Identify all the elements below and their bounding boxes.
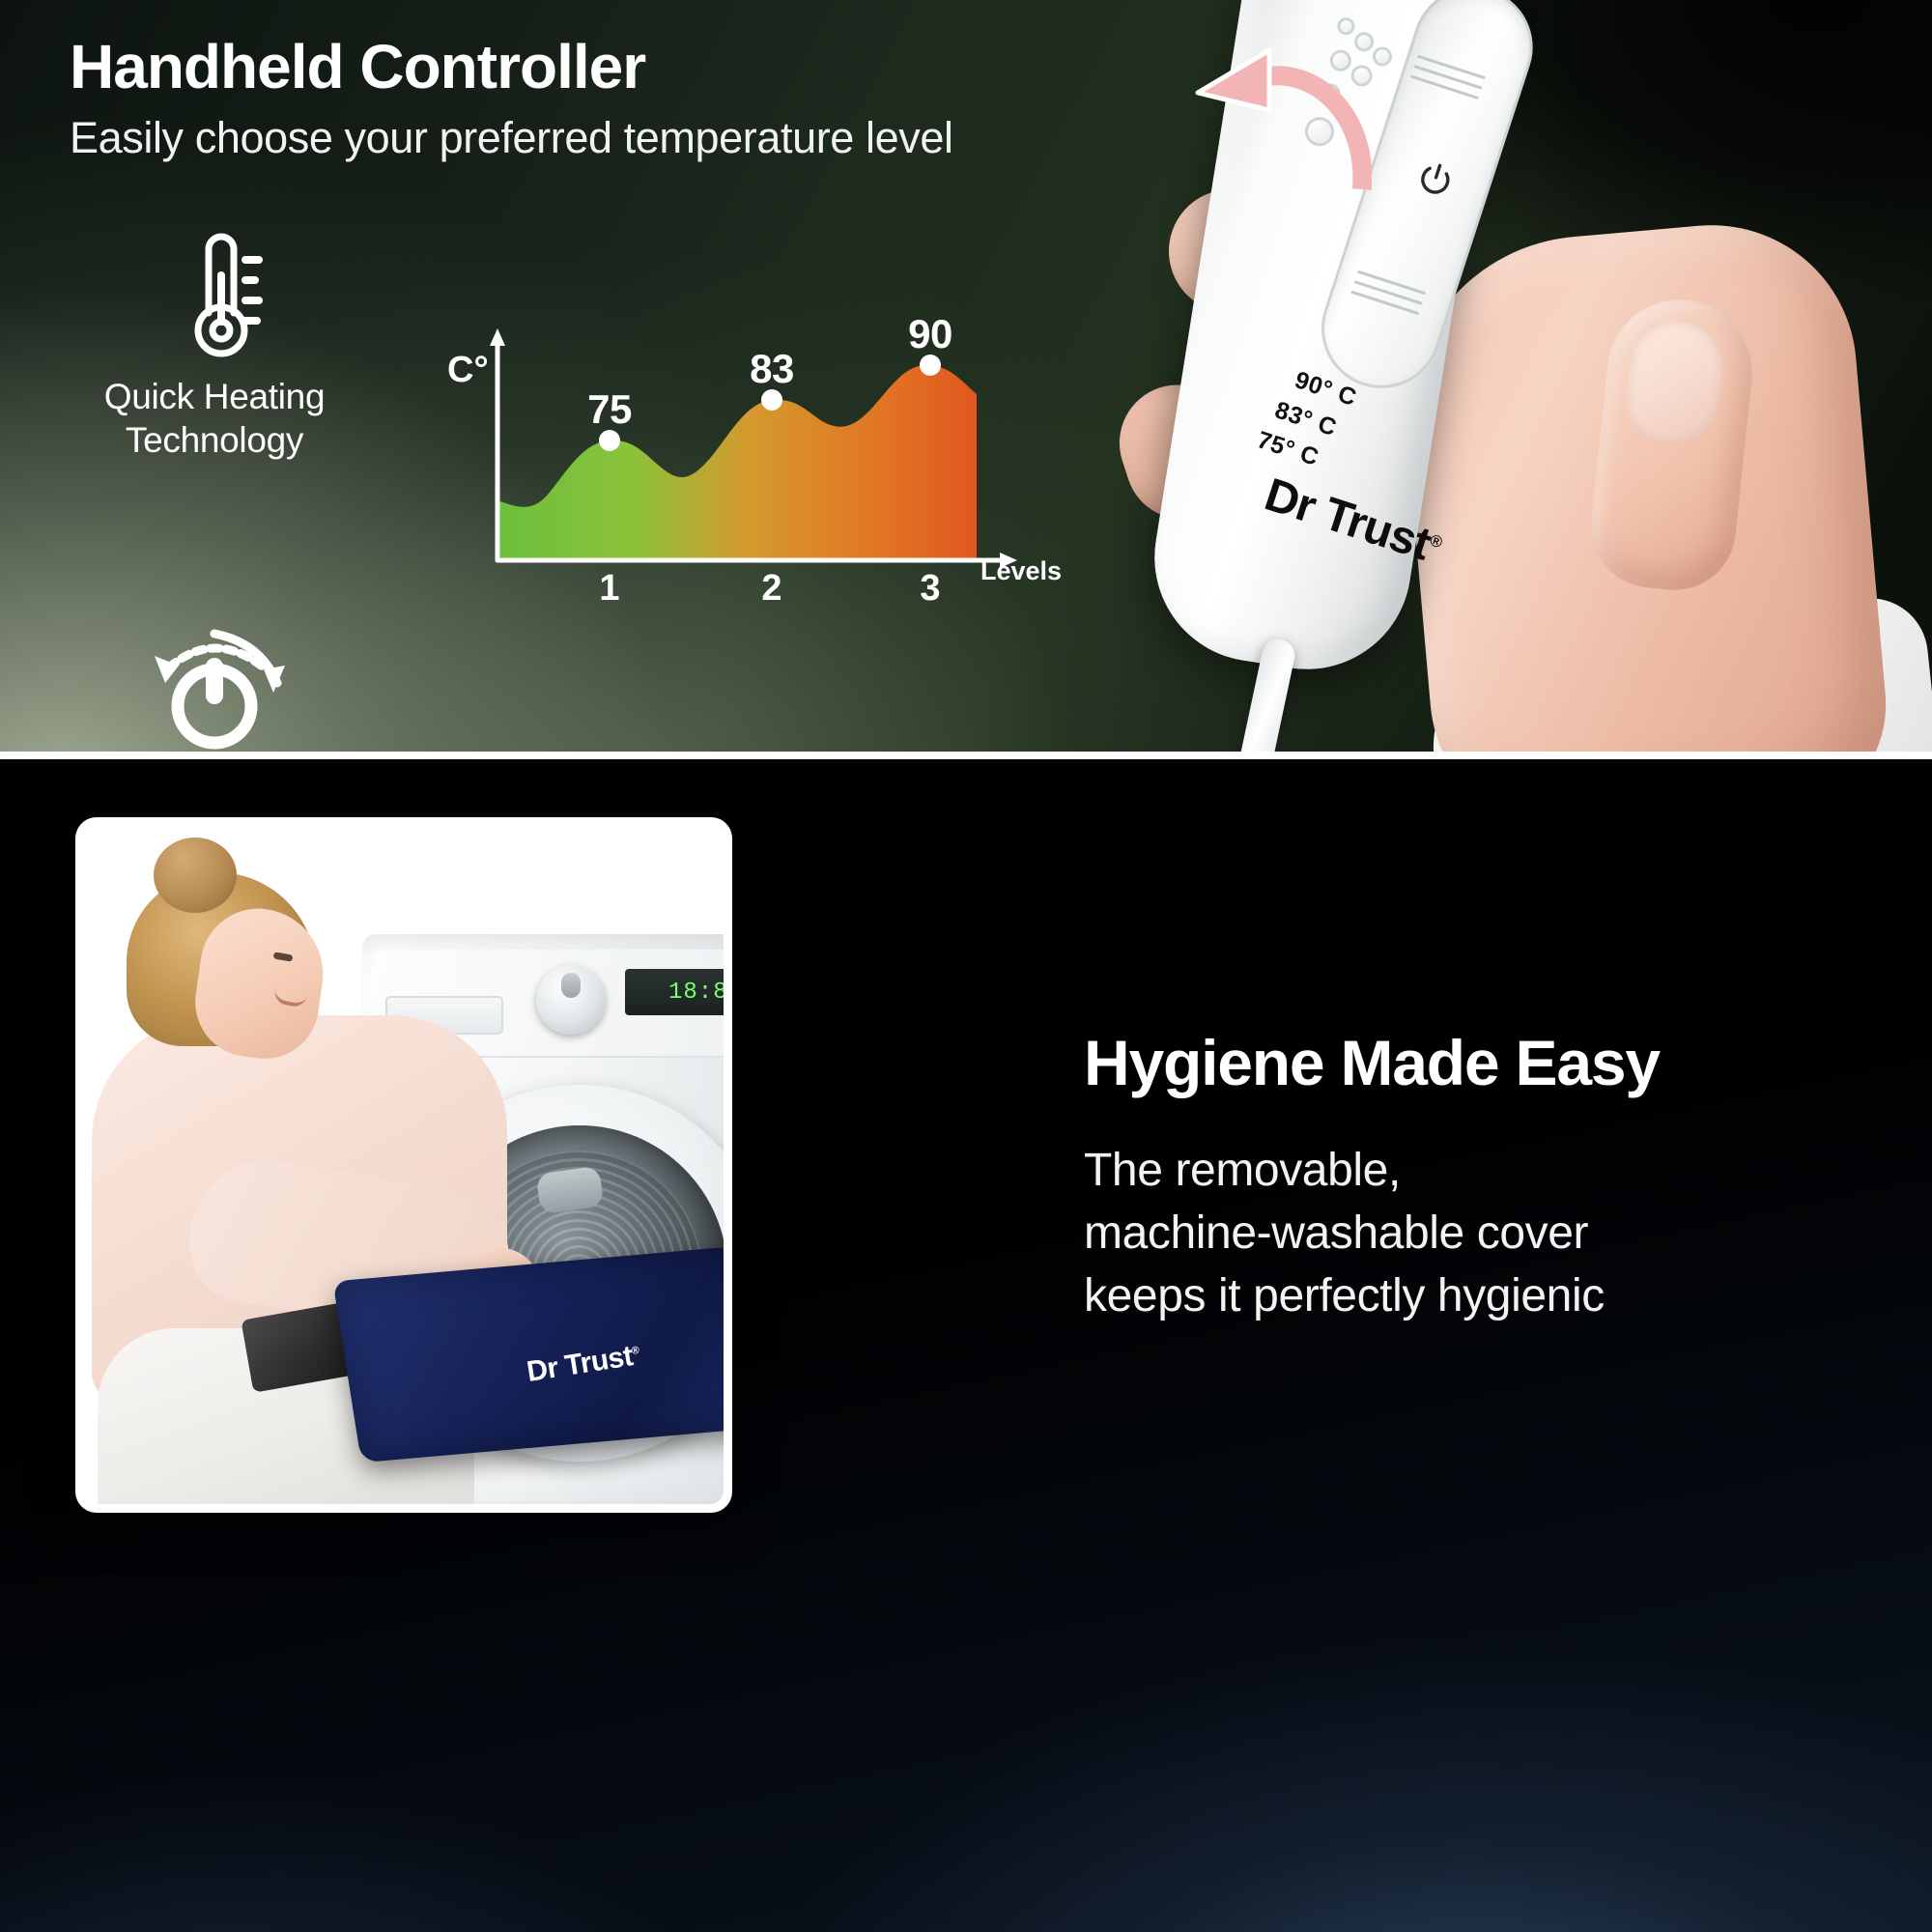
x-tick-1: 1: [599, 568, 619, 610]
feature-auto-off: Auto Off After 90˚C: [12, 618, 417, 755]
x-tick-2: 2: [761, 568, 781, 610]
data-point-3: [920, 355, 941, 376]
feature-label: Quick Heating Technology: [12, 375, 417, 462]
x-tick-3: 3: [920, 568, 940, 610]
page-subtitle: Easily choose your preferred temperature…: [70, 113, 953, 163]
chart-x-axis-label: Levels: [980, 556, 1062, 586]
hygiene-body: The removable, machine-washable cover ke…: [1084, 1139, 1857, 1328]
curved-arrow-icon: [1169, 44, 1372, 199]
indicator-dot: [1336, 16, 1356, 37]
display-text: 18:88: [668, 980, 724, 1006]
thermometer-icon: [12, 220, 417, 365]
data-point-label-1: 75: [587, 386, 632, 433]
feature-quick-heating: Quick Heating Technology: [12, 220, 417, 462]
data-point-label-3: 90: [908, 311, 952, 357]
data-point-label-2: 83: [750, 346, 794, 392]
washing-machine-display: 18:88: [625, 969, 724, 1015]
hair-bun: [154, 838, 237, 913]
hygiene-title: Hygiene Made Easy: [1084, 1030, 1857, 1096]
washing-machine-photo-frame: 18:88 Dr Trust®: [75, 817, 732, 1513]
program-knob: [536, 965, 606, 1035]
handheld-controller-section: Handheld Controller Easily choose your p…: [0, 0, 1932, 755]
data-point-1: [599, 430, 620, 451]
chart-svg: [440, 319, 1038, 667]
handheld-controller-photo: 90° C 83° C 75° C Dr Trust®: [1111, 0, 1932, 755]
heating-pad-cover: [332, 1246, 724, 1463]
page-title: Handheld Controller: [70, 35, 953, 99]
heat-levels-chart: C°: [440, 319, 1038, 667]
headline-block: Handheld Controller Easily choose your p…: [70, 35, 953, 163]
pad-registered-mark: ®: [631, 1345, 639, 1357]
hygiene-section: 18:88 Dr Trust® Hygiene Made Ea: [0, 759, 1932, 1932]
auto-power-off-icon: [12, 618, 417, 755]
data-point-2: [761, 389, 782, 411]
washing-machine-photo: 18:88 Dr Trust®: [84, 826, 724, 1504]
infographic-page: Handheld Controller Easily choose your p…: [0, 0, 1932, 1932]
section-divider: [0, 752, 1932, 759]
indicator-dot: [1372, 45, 1394, 68]
hygiene-copy-block: Hygiene Made Easy The removable, machine…: [1084, 1030, 1857, 1327]
